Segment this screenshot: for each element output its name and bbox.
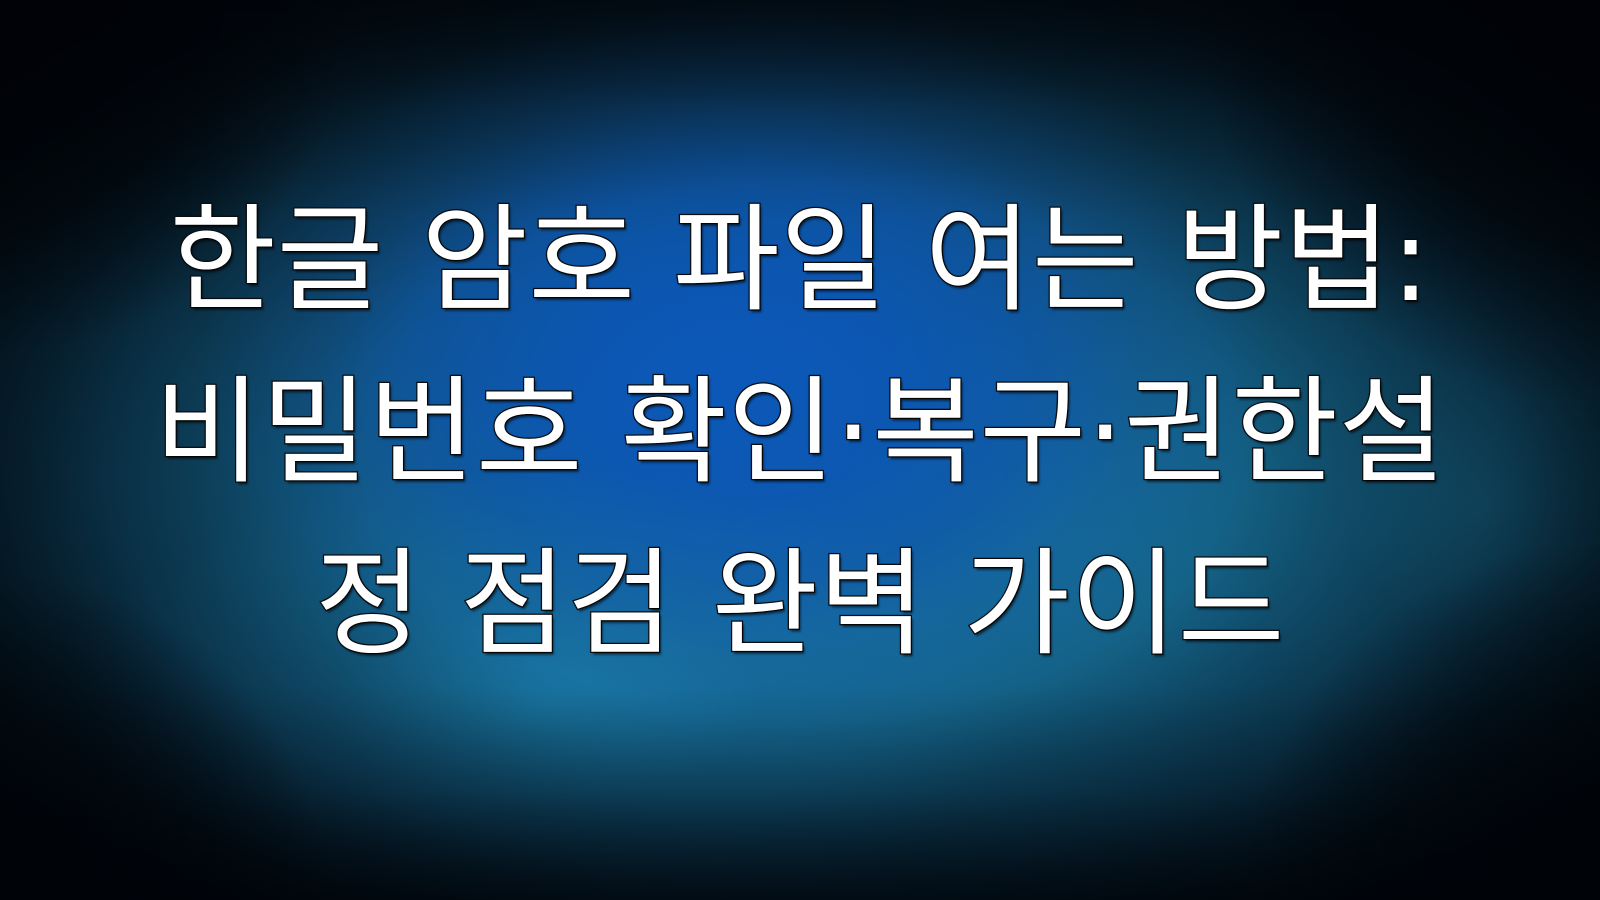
headline-line-1: 한글 암호 파일 여는 방법: (169, 175, 1430, 347)
headline-block: 한글 암호 파일 여는 방법: 비밀번호 확인·복구·권한설 정 점검 완벽 가… (0, 175, 1600, 691)
headline-line-3: 정 점검 완벽 가이드 (315, 519, 1285, 691)
title-card-canvas: 한글 암호 파일 여는 방법: 비밀번호 확인·복구·권한설 정 점검 완벽 가… (0, 0, 1600, 900)
headline-line-2: 비밀번호 확인·복구·권한설 (154, 347, 1446, 519)
